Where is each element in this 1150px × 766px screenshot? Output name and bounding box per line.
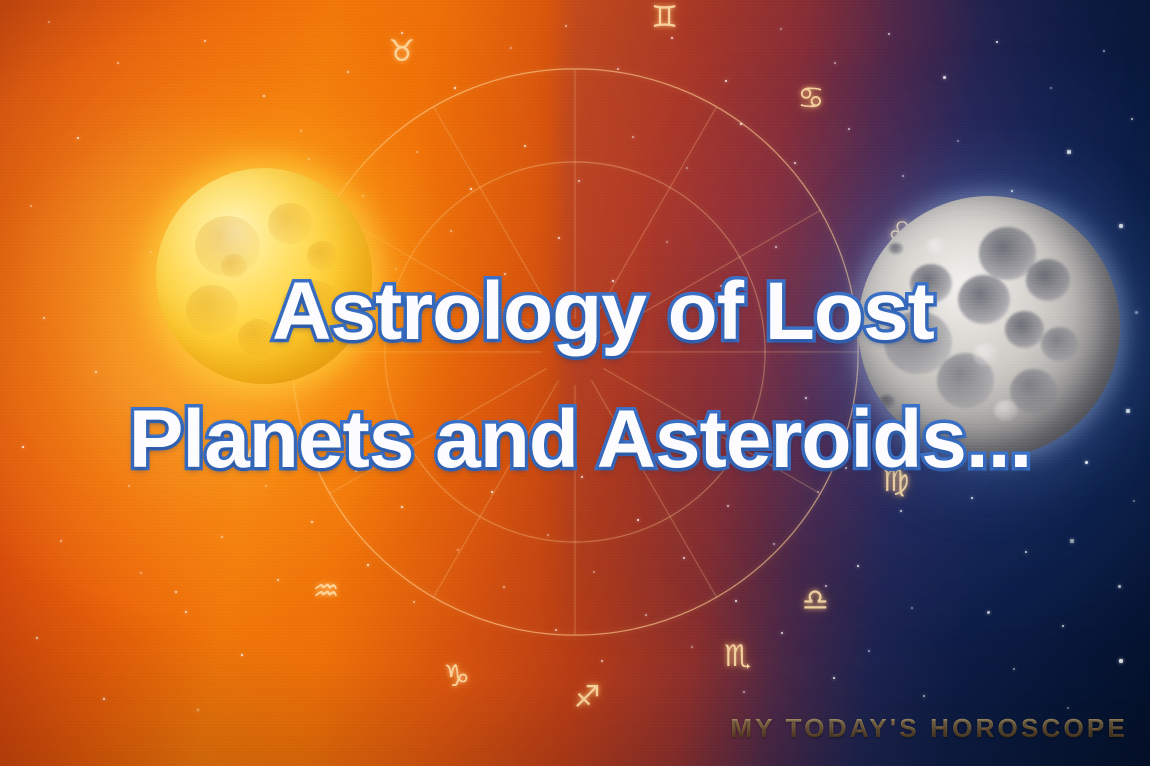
thumbnail-canvas: ♊♋♌♍♎♏♐♑♒♓♈♉	[0, 0, 1150, 766]
vignette-overlay	[0, 0, 1150, 766]
